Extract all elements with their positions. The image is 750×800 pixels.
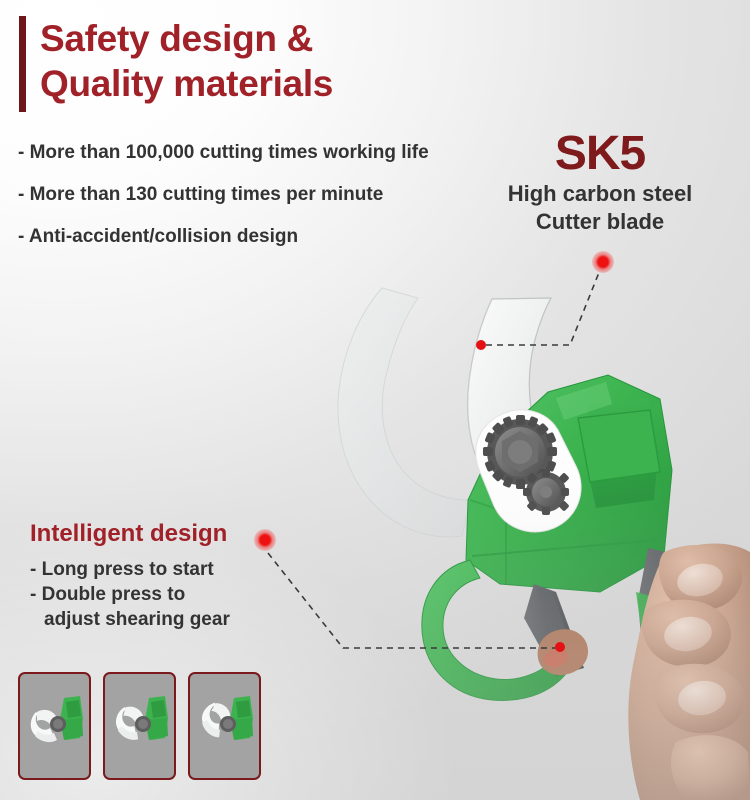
infographic-canvas: Safety design & Quality materials - More… bbox=[0, 0, 750, 800]
headline-accent-bar bbox=[19, 16, 26, 112]
feature-item: - More than 100,000 cutting times workin… bbox=[18, 142, 429, 164]
thumbnail-strip bbox=[18, 672, 261, 780]
intelligent-callout-glow-dot bbox=[254, 529, 276, 551]
headline-line-1: Safety design & bbox=[40, 16, 333, 61]
headline: Safety design & Quality materials bbox=[19, 16, 333, 112]
blade-callout: SK5 High carbon steel Cutter blade bbox=[472, 128, 728, 236]
blade-callout-subtitle-2: Cutter blade bbox=[472, 208, 728, 236]
feature-list: - More than 100,000 cutting times workin… bbox=[18, 142, 429, 268]
thumbnail-blade-position-closed[interactable] bbox=[188, 672, 261, 780]
secondary-gear bbox=[523, 469, 570, 515]
thumbnail-blade-position-mid[interactable] bbox=[103, 672, 176, 780]
headline-line-2: Quality materials bbox=[40, 61, 333, 106]
intelligent-design-item: adjust shearing gear bbox=[30, 607, 230, 632]
thumb-shear-open bbox=[31, 696, 83, 742]
blade-callout-subtitle-1: High carbon steel bbox=[472, 180, 728, 208]
thumb-shear-mid bbox=[112, 696, 168, 741]
feature-item: - More than 130 cutting times per minute bbox=[18, 184, 429, 206]
blade-callout-glow-dot bbox=[592, 251, 614, 273]
intelligent-design-item: - Double press to bbox=[30, 582, 230, 607]
intelligent-design-callout: Intelligent design - Long press to start… bbox=[30, 520, 230, 632]
thumbnail-blade-position-open[interactable] bbox=[18, 672, 91, 780]
intelligent-design-list: - Long press to start - Double press to … bbox=[30, 557, 230, 632]
intelligent-callout-target-dot bbox=[555, 642, 565, 652]
intelligent-design-title: Intelligent design bbox=[30, 520, 230, 548]
thumb-shear-closed bbox=[195, 696, 253, 740]
intelligent-design-item: - Long press to start bbox=[30, 557, 230, 582]
feature-item: - Anti-accident/collision design bbox=[18, 226, 429, 248]
headline-text: Safety design & Quality materials bbox=[40, 16, 333, 106]
blade-callout-title: SK5 bbox=[472, 128, 728, 180]
rear-blade bbox=[338, 288, 470, 537]
blade-callout-target-dot bbox=[476, 340, 486, 350]
